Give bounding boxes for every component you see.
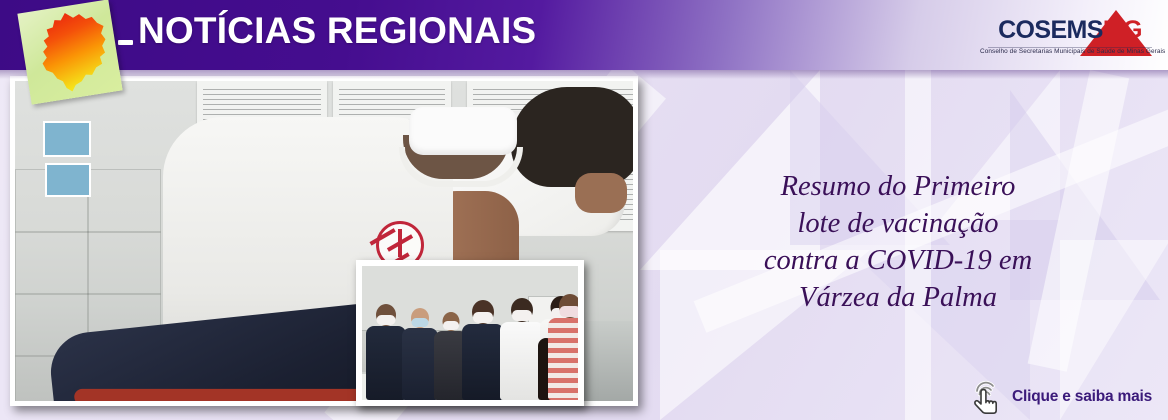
- read-more-cta[interactable]: Clique e saiba mais: [968, 378, 1164, 416]
- minas-gerais-map-badge: [18, 2, 126, 102]
- inset-person-mask: [560, 306, 579, 317]
- news-headline-line-2: lote de vacinação: [688, 205, 1108, 242]
- inset-photo-content: [362, 266, 578, 400]
- hand-pointer-click-icon: [968, 377, 1008, 417]
- banner-header: NOTÍCIAS REGIONAIS COSEMSMG Conselho de …: [0, 0, 1168, 70]
- wall-picture: [43, 121, 91, 157]
- minas-gerais-map-icon: [30, 7, 115, 99]
- logo-tagline: Conselho de Secretarias Municipais de Sa…: [980, 48, 1160, 55]
- wall-tile: [15, 231, 89, 295]
- inset-person-body: [366, 326, 406, 400]
- logo-wordmark: COSEMSMG: [980, 16, 1160, 45]
- inset-person: [548, 294, 578, 400]
- inset-person-mask: [377, 315, 396, 325]
- inset-person-body: [462, 324, 504, 400]
- wall-tile: [87, 169, 161, 233]
- news-headline: Resumo do Primeiro lote de vacinação con…: [688, 168, 1108, 316]
- page-title: NOTÍCIAS REGIONAIS: [138, 10, 536, 52]
- news-headline-line-4: Várzea da Palma: [688, 279, 1108, 316]
- regional-news-banner: SAMU 192: [0, 0, 1168, 420]
- inset-person-body: [548, 318, 578, 400]
- inset-person-mask: [473, 312, 493, 323]
- inset-person: [462, 300, 504, 400]
- logo-mg-text: MG: [1103, 16, 1142, 44]
- inset-person-mask: [443, 321, 459, 330]
- inset-person-mask: [512, 310, 532, 321]
- news-headline-line-1: Resumo do Primeiro: [688, 168, 1108, 205]
- jacket-stripe: [74, 389, 364, 401]
- cosems-logo[interactable]: COSEMSMG Conselho de Secretarias Municip…: [980, 6, 1160, 68]
- news-headline-line-3: contra a COVID-19 em: [688, 242, 1108, 279]
- inset-person-mask: [412, 318, 429, 327]
- inset-photo: [356, 260, 584, 406]
- health-worker-hair: [511, 87, 633, 187]
- wall-picture: [45, 163, 91, 197]
- inset-person: [402, 308, 438, 400]
- logo-cosems-text: COSEMS: [998, 16, 1103, 44]
- header-shadow: [0, 70, 1168, 79]
- inset-person: [366, 304, 406, 400]
- read-more-label: Clique e saiba mais: [1012, 388, 1152, 406]
- health-worker-hand: [575, 173, 627, 213]
- wall-tile: [87, 231, 161, 295]
- inset-person-body: [402, 328, 438, 400]
